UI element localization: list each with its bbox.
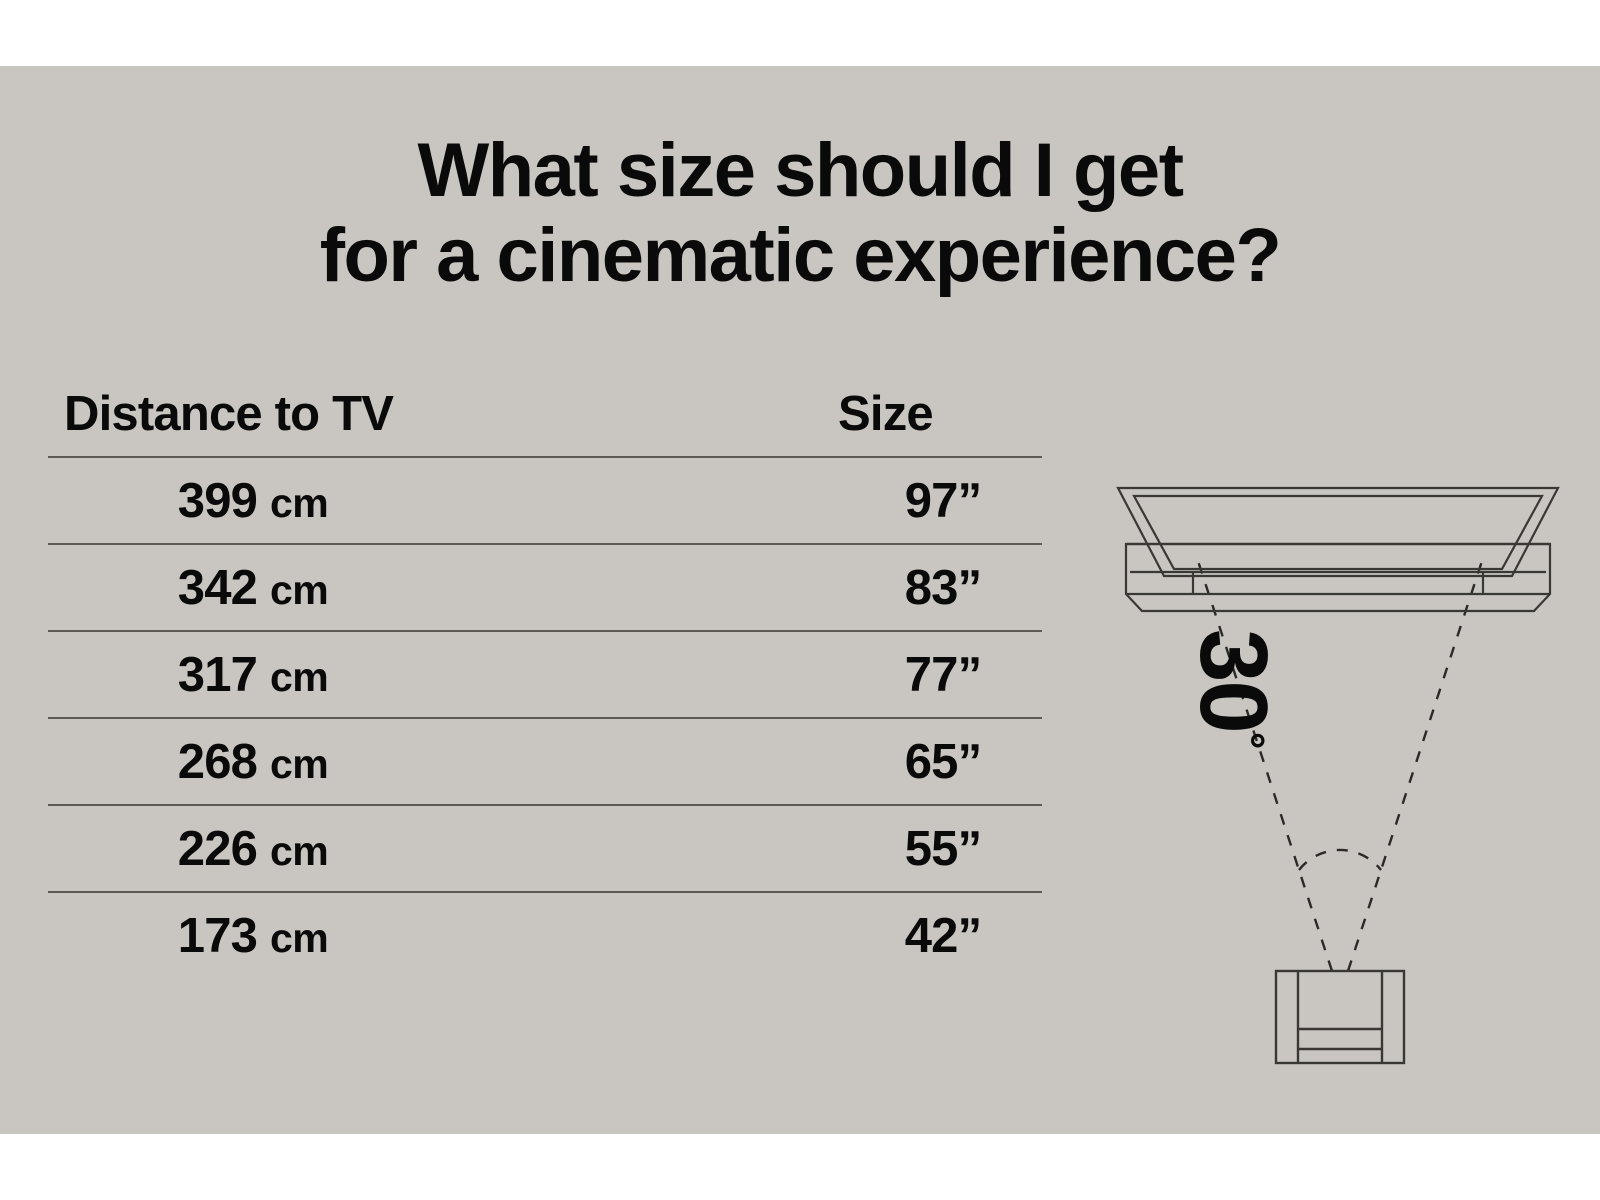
distance-unit: cm [270,828,328,874]
tv-base-slab [1126,544,1550,611]
table-row: 268 cm 65” [48,717,1042,804]
cell-distance: 173 cm [48,908,458,964]
column-header-size: Size [838,386,933,442]
table-row: 399 cm 97” [48,456,1042,543]
cell-size: 83” [788,560,1098,616]
tv-panel-inner [1134,496,1542,569]
cell-size: 65” [788,734,1098,790]
cell-distance: 342 cm [48,560,458,616]
cell-distance: 226 cm [48,821,458,877]
page-title: What size should I get for a cinematic e… [0,128,1600,298]
cell-distance: 268 cm [48,734,458,790]
table-row: 342 cm 83” [48,543,1042,630]
angle-arc [1299,850,1381,870]
column-header-distance: Distance to TV [64,386,393,442]
distance-value: 268 [178,735,257,789]
distance-value: 399 [178,474,257,528]
page-title-line-1: What size should I get [0,128,1600,213]
distance-value: 342 [178,561,257,615]
table-row: 317 cm 77” [48,630,1042,717]
table-row: 226 cm 55” [48,804,1042,891]
tv-panel-outer [1118,488,1558,576]
distance-value: 226 [178,822,257,876]
distance-unit: cm [270,480,328,526]
degree-symbol: ° [1224,732,1273,750]
infographic-stage: What size should I get for a cinematic e… [0,0,1600,1200]
cell-distance: 317 cm [48,647,458,703]
viewing-angle-label: 30° [1185,629,1281,749]
tv-top-view [1118,488,1558,611]
sofa-top-view [1276,971,1404,1063]
distance-value: 317 [178,648,257,702]
viewing-angle-diagram [1090,451,1570,1071]
page-title-line-2: for a cinematic experience? [0,213,1600,298]
distance-unit: cm [270,741,328,787]
distance-value: 173 [178,909,257,963]
table-row: 173 cm 42” [48,891,1042,978]
cell-size: 55” [788,821,1098,877]
sightline-right [1348,561,1482,971]
cell-size: 77” [788,647,1098,703]
angle-value: 30 [1180,629,1287,732]
distance-unit: cm [270,654,328,700]
content-canvas: What size should I get for a cinematic e… [0,66,1600,1134]
distance-unit: cm [270,915,328,961]
distance-unit: cm [270,567,328,613]
viewing-angle-sightlines [1198,561,1482,971]
cell-distance: 399 cm [48,473,458,529]
table-header-row: Distance to TV Size [48,369,1042,456]
cell-size: 42” [788,908,1098,964]
sightline-left [1198,561,1332,971]
size-table: Distance to TV Size 399 cm 97” 342 cm 83… [48,369,1042,978]
cell-size: 97” [788,473,1098,529]
